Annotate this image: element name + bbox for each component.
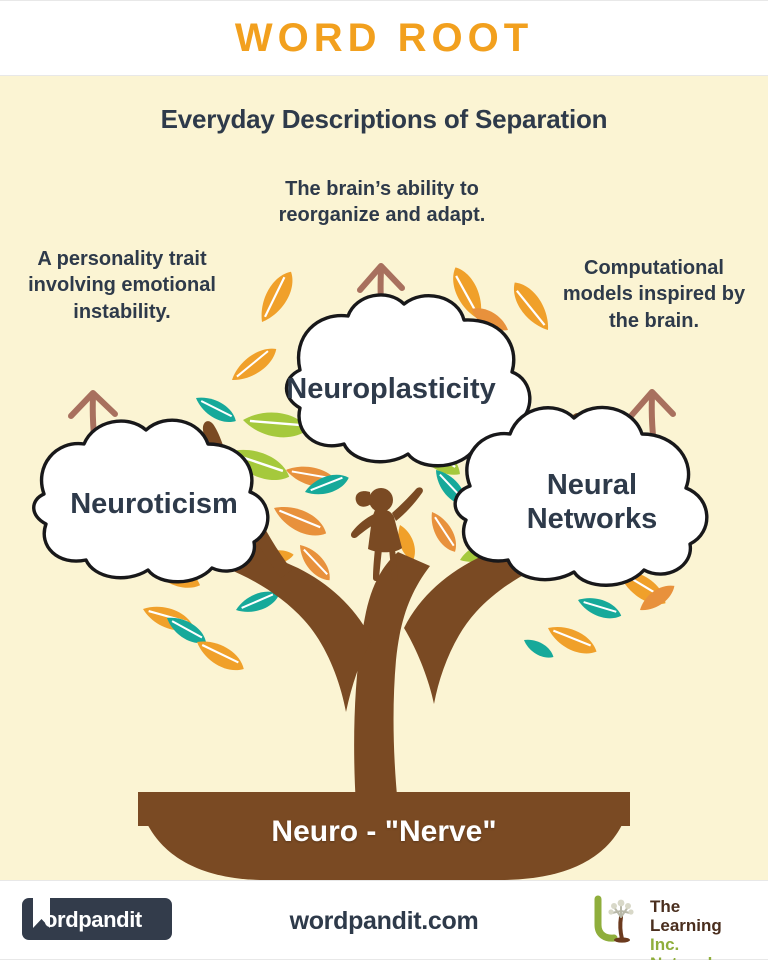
description-neural-networks: Computational models inspired by the bra… — [548, 255, 760, 334]
header-bar: WORD ROOT — [0, 0, 768, 76]
partner-tree-icon — [588, 895, 648, 945]
infographic-page: WORD ROOT Everyday Descriptions of Separ… — [0, 0, 768, 960]
cloud-label-neuroticism: Neuroticism — [14, 487, 294, 521]
subtitle: Everyday Descriptions of Separation — [0, 104, 768, 135]
partner-logo-text: The Learning Inc. Network — [650, 897, 748, 960]
cloud-label-neuroplasticity: Neuroplasticity — [236, 372, 546, 406]
partner-logo-line2: Inc. Network — [650, 935, 748, 960]
footer-bar: ordpandit wordpandit.com The Learning In… — [0, 880, 768, 960]
child-silhouette-icon — [351, 487, 423, 581]
root-word-label: Neuro - "Nerve" — [0, 815, 768, 849]
description-neuroplasticity: The brain’s ability to reorganize and ad… — [232, 176, 532, 229]
cloud-label-neural-networks: Neural Networks — [470, 468, 714, 536]
description-neuroticism: A personality trait involving emotional … — [10, 246, 234, 325]
the-learning-inc-network-logo[interactable]: The Learning Inc. Network — [588, 895, 748, 945]
partner-logo-line1: The Learning — [650, 897, 748, 935]
page-title: WORD ROOT — [235, 16, 533, 61]
